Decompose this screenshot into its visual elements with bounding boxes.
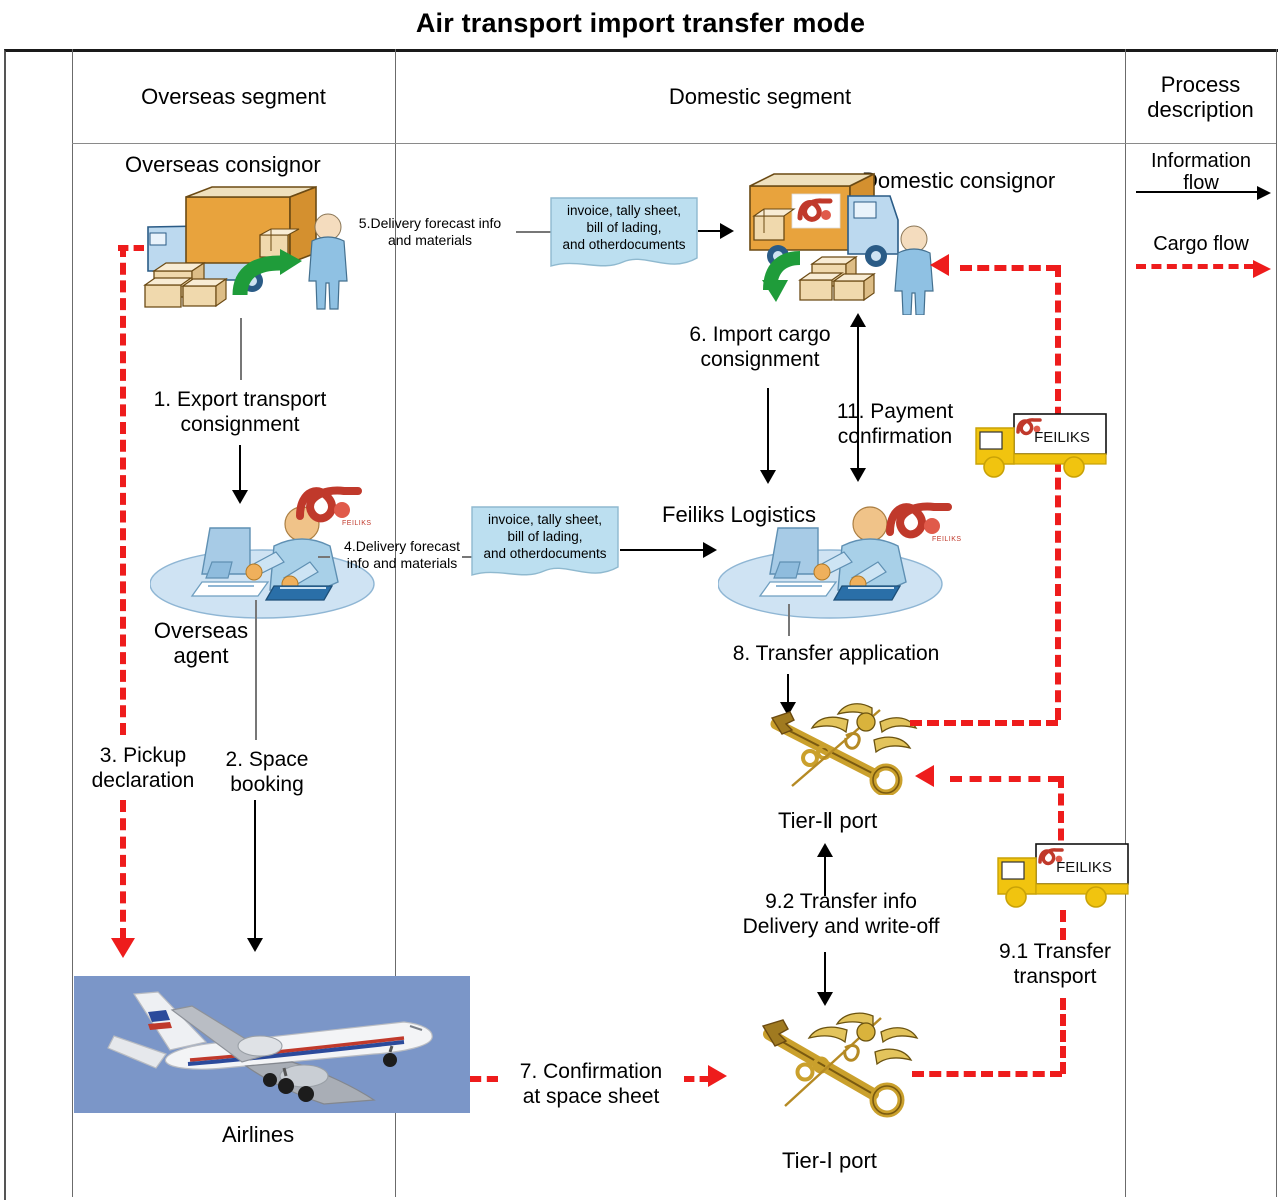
grid-divider-right-edge	[1276, 49, 1277, 1197]
leader-step-2	[255, 600, 257, 740]
step-3-pickup-declaration: 3. Pickup declaration	[70, 744, 216, 794]
arrow-step-9-2-up-head	[817, 843, 833, 857]
cargo-flow-truck-lower-top	[1060, 910, 1066, 940]
cargo-flow-tier2-top	[910, 720, 1058, 726]
step-8-transfer-application: 8. Transfer application	[706, 642, 966, 667]
arrow-step-6-head	[760, 470, 776, 484]
column-header-domestic: Domestic segment	[395, 84, 1125, 109]
arrow-step-11-head-down	[850, 468, 866, 482]
feiliks-truck-lower: FEILIKS	[992, 840, 1132, 912]
cargo-flow-truck-lower-bottom	[1060, 998, 1066, 1074]
step-2-space-booking: 2. Space booking	[205, 748, 329, 798]
cargo-flow-to-consignee-h	[960, 265, 1058, 271]
feiliks-logo-overseas-agent: FEILIKS	[290, 482, 370, 530]
legend-information-flow-arrow	[1136, 191, 1258, 193]
cargo-flow-step-7-head	[708, 1065, 727, 1087]
tier2-port-customs-emblem	[762, 700, 922, 795]
node-label-overseas-agent: Overseas agent	[136, 618, 266, 669]
step-1-export-transport-consignment: 1. Export transport consignment	[120, 388, 360, 438]
node-label-tier2-port: Tier-Ⅱ port	[778, 808, 877, 833]
arrow-step-11-head-up	[850, 313, 866, 327]
cargo-flow-left-lower	[120, 800, 126, 940]
cargo-flow-tier2-mid	[950, 776, 1060, 782]
arrow-doc-top-shaft	[698, 230, 722, 232]
feiliks-truck-upper: FEILIKS	[970, 410, 1110, 482]
node-label-airlines: Airlines	[222, 1122, 294, 1147]
arrow-step-2-head	[247, 938, 263, 952]
document-invoice-top: invoice, tally sheet, bill of lading, an…	[549, 196, 699, 276]
document-invoice-top-text: invoice, tally sheet, bill of lading, an…	[549, 196, 699, 254]
step-5-delivery-forecast: 5.Delivery forecast info and materials	[340, 215, 520, 249]
step-11-payment-confirmation: 11. Payment confirmation	[795, 400, 995, 450]
step-6-import-cargo-consignment: 6. Import cargo consignment	[660, 323, 860, 373]
tier1-port-customs-emblem	[755, 1010, 925, 1120]
overseas-consignor-illustration	[140, 185, 355, 315]
arrow-step-11-shaft	[857, 315, 859, 480]
cargo-flow-left-upper	[120, 245, 126, 735]
arrow-doc-mid-shaft	[620, 549, 706, 551]
svg-text:FEILIKS: FEILIKS	[1056, 859, 1112, 876]
cargo-flow-step-7-right	[684, 1076, 710, 1082]
step-4-delivery-forecast: 4.Delivery forecast info and materials	[328, 538, 476, 572]
leader-step-4-left	[318, 556, 330, 558]
step-7-confirmation-at-space-sheet: 7. Confirmation at space sheet	[496, 1060, 686, 1110]
legend-cargo-flow-arrow	[1136, 264, 1254, 269]
arrow-step-2-shaft	[254, 800, 256, 942]
step-9-2-transfer-info: 9.2 Transfer info Delivery and write-off	[710, 890, 972, 940]
legend-information-flow-label: Information flow	[1128, 150, 1274, 195]
cargo-flow-right-riser	[1055, 265, 1061, 720]
node-label-tier1-port: Tier-Ⅰ port	[782, 1148, 877, 1173]
feiliks-logo-logistics: FEILIKS	[880, 498, 960, 546]
arrow-doc-mid-head	[703, 542, 717, 558]
cargo-flow-step-7-left	[470, 1076, 498, 1082]
step-9-1-transfer-transport: 9.1 Transfer transport	[975, 940, 1135, 990]
legend-cargo-flow-label: Cargo flow	[1128, 233, 1274, 255]
feiliks-logo-wordmark-1: FEILIKS	[342, 520, 372, 527]
page-title: Air transport import transfer mode	[0, 8, 1281, 39]
column-header-overseas: Overseas segment	[72, 84, 395, 109]
cargo-flow-left-head	[111, 938, 135, 958]
column-header-process: Process description	[1125, 72, 1276, 123]
arrow-step-9-2-down-head	[817, 992, 833, 1006]
feiliks-logo-wordmark-2: FEILIKS	[932, 536, 962, 543]
grid-header-rule	[72, 143, 1276, 144]
leader-step-8	[788, 604, 790, 636]
cargo-flow-to-consignee-head	[930, 254, 949, 276]
document-invoice-mid-text: invoice, tally sheet, bill of lading, an…	[470, 505, 620, 563]
cargo-flow-tier1-to-truck	[912, 1071, 1062, 1077]
arrow-step-9-2-down-shaft	[824, 952, 826, 996]
arrow-step-1-shaft	[239, 445, 241, 493]
diagram-canvas: Air transport import transfer mode Overs…	[0, 0, 1281, 1200]
grid-divider-domestic-process	[1125, 49, 1126, 1197]
svg-text:FEILIKS: FEILIKS	[1034, 429, 1090, 446]
airlines-photo	[74, 976, 470, 1113]
node-label-overseas-consignor: Overseas consignor	[125, 152, 321, 177]
leader-overseas-consignor	[240, 318, 242, 380]
arrow-step-6-shaft	[767, 388, 769, 474]
cargo-flow-tier2-head	[915, 765, 934, 787]
document-invoice-mid: invoice, tally sheet, bill of lading, an…	[470, 505, 620, 585]
grid-divider-left-margin	[72, 49, 73, 1197]
